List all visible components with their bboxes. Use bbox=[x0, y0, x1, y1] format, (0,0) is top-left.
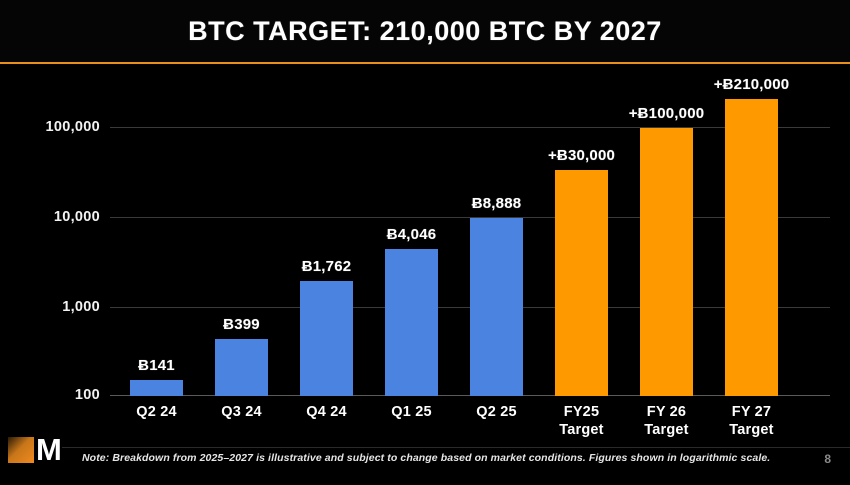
bar-value-label: +Ƀ30,000 bbox=[548, 147, 615, 164]
bar-q4-24[interactable]: Ƀ1,762Q4 24 bbox=[300, 281, 353, 396]
page-title: BTC TARGET: 210,000 BTC BY 2027 bbox=[188, 16, 662, 47]
bar-q3-24[interactable]: Ƀ399Q3 24 bbox=[215, 339, 268, 396]
bar-rect bbox=[130, 380, 183, 396]
x-axis-category-label: Q2 25 bbox=[476, 403, 517, 421]
y-axis-tick-label: 100,000 bbox=[45, 119, 100, 135]
brand-logo: M bbox=[8, 437, 64, 471]
y-axis-tick-label: 10,000 bbox=[54, 209, 100, 225]
x-axis-label-line2: Target bbox=[559, 421, 603, 439]
x-axis-label-line1: Q1 25 bbox=[391, 403, 432, 421]
x-axis-category-label: Q4 24 bbox=[306, 403, 347, 421]
bar-rect bbox=[725, 99, 778, 396]
bar-rect bbox=[470, 218, 523, 396]
bar-fy25-target[interactable]: +Ƀ30,000FY25Target bbox=[555, 170, 608, 396]
bar-rect bbox=[555, 170, 608, 396]
bar-rect bbox=[215, 339, 268, 396]
bar-value-label: +Ƀ100,000 bbox=[629, 105, 705, 122]
page-number: 8 bbox=[824, 452, 831, 466]
footer-divider bbox=[62, 447, 850, 448]
x-axis-category-label: FY 26Target bbox=[644, 403, 688, 439]
bar-value-label: +Ƀ210,000 bbox=[714, 76, 790, 93]
bar-rect bbox=[385, 249, 438, 396]
bar-fy-26-target[interactable]: +Ƀ100,000FY 26Target bbox=[640, 128, 693, 396]
logo-square-icon bbox=[8, 437, 34, 463]
bar-rect bbox=[640, 128, 693, 396]
x-axis-label-line1: Q2 24 bbox=[136, 403, 177, 421]
bar-q2-24[interactable]: Ƀ141Q2 24 bbox=[130, 380, 183, 396]
x-axis-category-label: Q2 24 bbox=[136, 403, 177, 421]
footnote: Note: Breakdown from 2025–2027 is illust… bbox=[82, 452, 770, 464]
x-axis-label-line1: Q2 25 bbox=[476, 403, 517, 421]
x-axis-label-line1: FY25 bbox=[559, 403, 603, 421]
bar-fy-27-target[interactable]: +Ƀ210,000FY 27Target bbox=[725, 99, 778, 396]
bar-rect bbox=[300, 281, 353, 396]
x-axis-label-line1: Q4 24 bbox=[306, 403, 347, 421]
x-axis-category-label: FY25Target bbox=[559, 403, 603, 439]
bar-value-label: Ƀ399 bbox=[223, 316, 260, 333]
bar-q1-25[interactable]: Ƀ4,046Q1 25 bbox=[385, 249, 438, 396]
bar-value-label: Ƀ8,888 bbox=[472, 195, 522, 212]
logo-letter-mark: M bbox=[36, 435, 62, 465]
x-axis-label-line1: FY 26 bbox=[644, 403, 688, 421]
x-axis-category-label: Q3 24 bbox=[221, 403, 262, 421]
x-axis-category-label: Q1 25 bbox=[391, 403, 432, 421]
bar-value-label: Ƀ1,762 bbox=[302, 258, 352, 275]
chart-plot: 100,00010,0001,000100Ƀ141Q2 24Ƀ399Q3 24Ƀ… bbox=[110, 64, 830, 396]
chart-area: 100,00010,0001,000100Ƀ141Q2 24Ƀ399Q3 24Ƀ… bbox=[0, 64, 850, 424]
x-axis-label-line2: Target bbox=[644, 421, 688, 439]
x-axis-label-line2: Target bbox=[729, 421, 773, 439]
slide-header: BTC TARGET: 210,000 BTC BY 2027 bbox=[0, 0, 850, 62]
bar-value-label: Ƀ4,046 bbox=[387, 226, 437, 243]
x-axis-category-label: FY 27Target bbox=[729, 403, 773, 439]
gridline: 100,000 bbox=[110, 127, 830, 128]
x-axis-label-line1: Q3 24 bbox=[221, 403, 262, 421]
bar-value-label: Ƀ141 bbox=[138, 357, 175, 374]
x-axis-label-line1: FY 27 bbox=[729, 403, 773, 421]
bar-q2-25[interactable]: Ƀ8,888Q2 25 bbox=[470, 218, 523, 396]
y-axis-tick-label: 100 bbox=[75, 387, 100, 403]
y-axis-tick-label: 1,000 bbox=[62, 299, 100, 315]
